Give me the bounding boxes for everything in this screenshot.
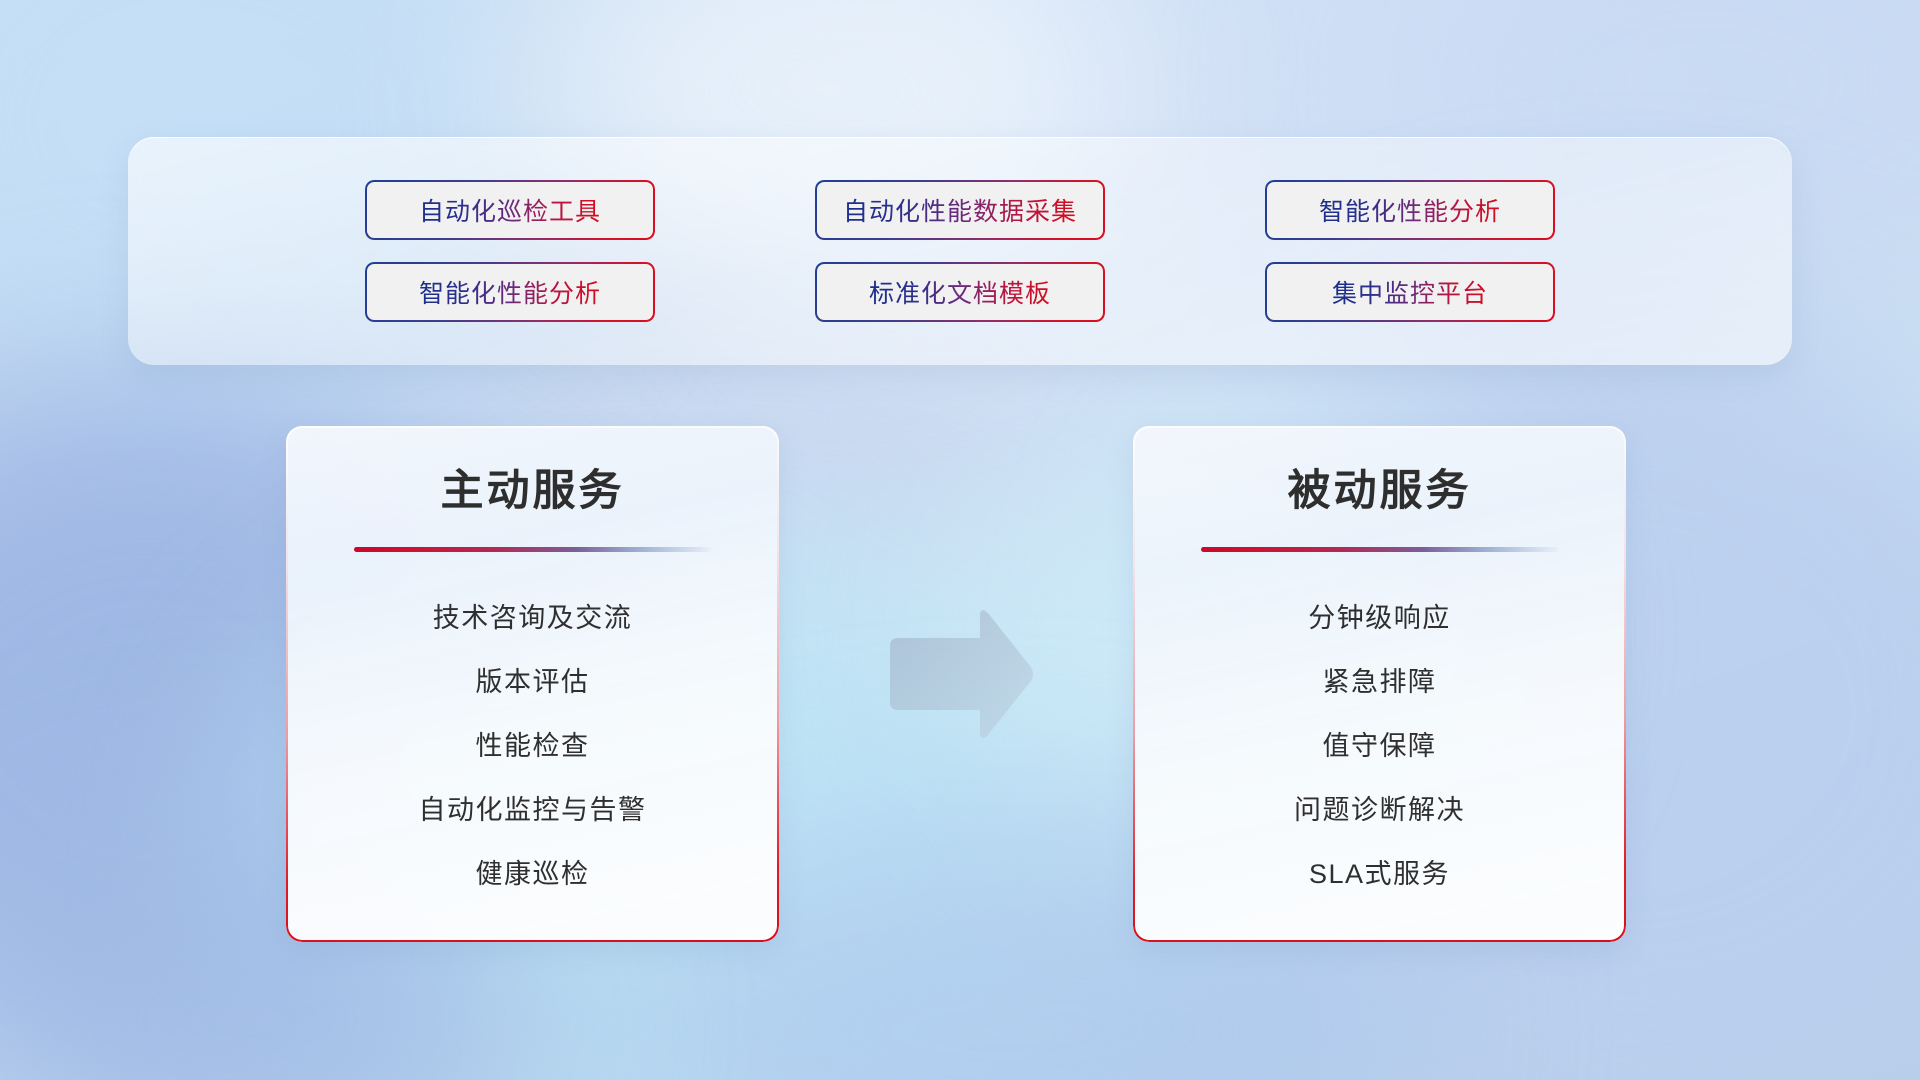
card-item-list: 分钟级响应 紧急排障 值守保障 问题诊断解决 SLA式服务 xyxy=(1133,596,1626,891)
card-item: SLA式服务 xyxy=(1309,852,1450,891)
card-item: 紧急排障 xyxy=(1323,660,1437,699)
card-item: 技术咨询及交流 xyxy=(433,596,633,635)
capability-row: 自动化巡检工具 自动化性能数据采集 智能化性能分析 xyxy=(128,180,1792,240)
capability-row: 智能化性能分析 标准化文档模板 集中监控平台 xyxy=(128,262,1792,322)
card-item: 自动化监控与告警 xyxy=(419,788,647,827)
card-item: 值守保障 xyxy=(1323,724,1437,763)
slide-canvas: 自动化巡检工具 自动化性能数据采集 智能化性能分析 智能化性能分析 标准化文档模… xyxy=(0,0,1920,1080)
card-divider xyxy=(354,547,712,552)
card-item: 问题诊断解决 xyxy=(1294,788,1465,827)
card-title: 主动服务 xyxy=(286,456,779,518)
capability-chip-label: 自动化巡检工具 xyxy=(419,192,601,228)
capability-chip[interactable]: 标准化文档模板 xyxy=(815,262,1105,322)
card-item: 健康巡检 xyxy=(476,852,590,891)
capability-chip-label: 智能化性能分析 xyxy=(1319,192,1501,228)
service-card-reactive: 被动服务 分钟级响应 紧急排障 值守保障 问题诊断解决 SLA式服务 xyxy=(1133,426,1626,942)
card-item-list: 技术咨询及交流 版本评估 性能检查 自动化监控与告警 健康巡检 xyxy=(286,596,779,891)
capability-chip-label: 集中监控平台 xyxy=(1332,274,1488,310)
card-divider xyxy=(1201,547,1559,552)
capability-chip-label: 自动化性能数据采集 xyxy=(843,192,1077,228)
card-item: 性能检查 xyxy=(476,724,590,763)
capabilities-panel: 自动化巡检工具 自动化性能数据采集 智能化性能分析 智能化性能分析 标准化文档模… xyxy=(128,137,1792,365)
card-item: 版本评估 xyxy=(476,660,590,699)
capability-chip[interactable]: 智能化性能分析 xyxy=(1265,180,1555,240)
capability-chip[interactable]: 智能化性能分析 xyxy=(365,262,655,322)
capability-chip[interactable]: 自动化性能数据采集 xyxy=(815,180,1105,240)
capability-chip-label: 智能化性能分析 xyxy=(419,274,601,310)
capability-chip-label: 标准化文档模板 xyxy=(869,274,1051,310)
card-item: 分钟级响应 xyxy=(1308,596,1451,635)
arrow-right-icon xyxy=(884,604,1036,744)
card-title: 被动服务 xyxy=(1133,456,1626,518)
capability-chip[interactable]: 集中监控平台 xyxy=(1265,262,1555,322)
service-card-proactive: 主动服务 技术咨询及交流 版本评估 性能检查 自动化监控与告警 健康巡检 xyxy=(286,426,779,942)
capability-chip[interactable]: 自动化巡检工具 xyxy=(365,180,655,240)
